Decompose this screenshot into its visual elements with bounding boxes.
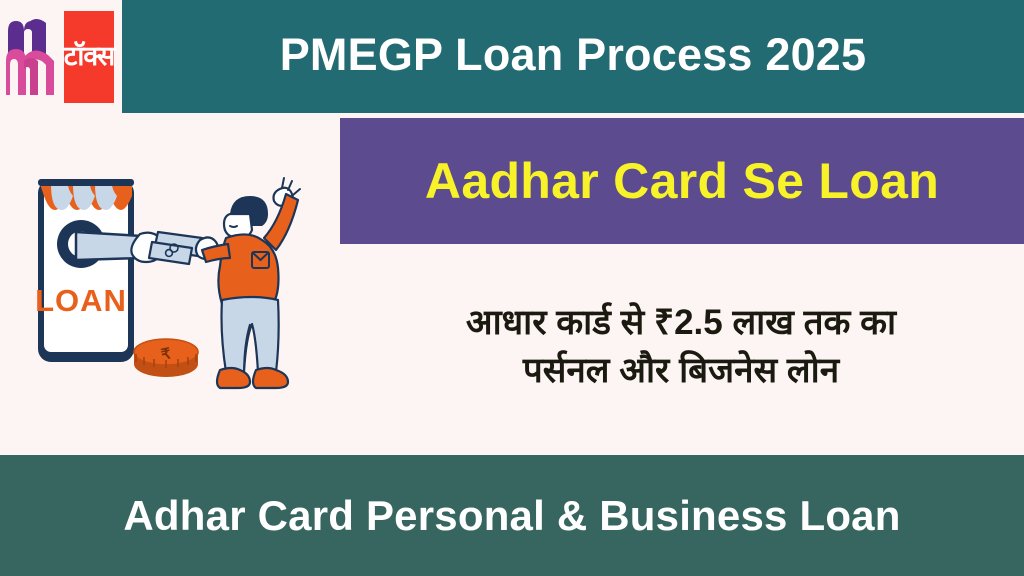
right-shoe-icon bbox=[253, 368, 288, 388]
subtitle-line-1: आधार कार्ड से ₹2.5 लाख तक का bbox=[466, 299, 896, 347]
logo-badge-text: टॉक्स bbox=[64, 43, 114, 70]
headline-text: Aadhar Card Se Loan bbox=[425, 152, 939, 210]
phone-loan-label: LOAN bbox=[35, 283, 127, 318]
rupee-coin-icon: ₹ bbox=[134, 339, 198, 377]
footer-text: Adhar Card Personal & Business Loan bbox=[123, 492, 900, 540]
header-row: टॉक्स PMEGP Loan Process 2025 bbox=[0, 0, 1024, 113]
subtitle-block: आधार कार्ड से ₹2.5 लाख तक का पर्सनल और ब… bbox=[345, 282, 1017, 412]
trousers-icon bbox=[222, 297, 279, 372]
logo-badge: टॉक्स bbox=[64, 11, 114, 103]
headline-banner: Aadhar Card Se Loan bbox=[340, 118, 1024, 244]
double-m-monogram-icon bbox=[4, 11, 62, 103]
hand-with-cash-icon bbox=[131, 232, 202, 264]
striped-awning-icon bbox=[38, 179, 134, 210]
loan-handover-illustration: LOAN bbox=[24, 168, 324, 413]
page-title: PMEGP Loan Process 2025 bbox=[280, 29, 867, 81]
header-title-bar: PMEGP Loan Process 2025 bbox=[122, 0, 1024, 113]
subtitle-line-2: पर्सनल और बिजनेस लोन bbox=[523, 347, 839, 395]
site-logo[interactable]: टॉक्स bbox=[0, 0, 122, 113]
footer-banner: Adhar Card Personal & Business Loan bbox=[0, 455, 1024, 576]
standing-person-icon bbox=[202, 178, 300, 388]
